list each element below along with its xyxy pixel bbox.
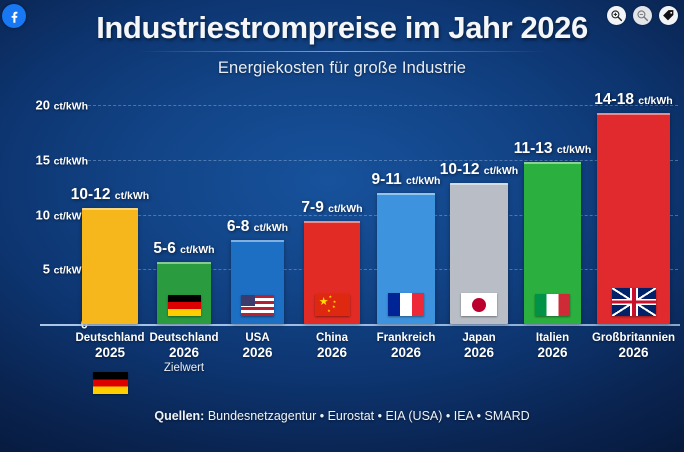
bar-value: 5-6 [153, 240, 175, 257]
bar-deutschland-2025[interactable] [82, 208, 138, 324]
bar-value: 6-8 [227, 218, 249, 235]
flag-de-icon [93, 372, 128, 394]
bar-value-label: 6-8 ct/kWh [197, 218, 318, 236]
gridline [88, 160, 678, 161]
bar-value-label: 10-12 ct/kWh [48, 186, 172, 204]
bar-value-label: 5-6 ct/kWh [123, 240, 245, 258]
bar-value: 14-18 [594, 91, 634, 108]
bar-value: 10-12 [71, 186, 111, 203]
bar-unit: ct/kWh [115, 190, 149, 202]
bar-value: 7-9 [301, 199, 323, 216]
plot-area: 05 ct/kWh10 ct/kWh15 ct/kWh20 ct/kWh 10-… [0, 0, 684, 452]
bar-highlight [597, 113, 670, 115]
bar-highlight [82, 208, 138, 210]
bar-value: 10-12 [440, 161, 480, 178]
zoom-in-icon[interactable] [607, 6, 626, 25]
zoom-out-icon[interactable] [633, 6, 652, 25]
bar-unit: ct/kWh [484, 165, 518, 177]
y-axis-tick: 20 ct/kWh [35, 98, 88, 113]
flag-it-icon [535, 294, 570, 316]
facebook-icon[interactable] [2, 4, 26, 28]
bar-highlight [304, 221, 360, 223]
bar-highlight [377, 193, 435, 195]
bar-value: 11-13 [514, 140, 553, 157]
infographic-chart: Industriestrompreise im Jahr 2026 Energi… [0, 0, 684, 452]
source-note: Quellen: Bundesnetzagentur • Eurostat • … [0, 409, 684, 423]
viewer-toolbar[interactable] [607, 6, 678, 25]
flag-de-icon [168, 295, 201, 316]
bar-unit: ct/kWh [638, 95, 672, 107]
bar-highlight [231, 240, 284, 242]
category-name: Großbritannien [581, 331, 684, 345]
source-label: Quellen: [154, 409, 204, 423]
flag-fr-icon [388, 293, 424, 316]
flag-gb-icon [612, 288, 656, 316]
y-axis-tick: 10 ct/kWh [35, 207, 88, 222]
bar-unit: ct/kWh [254, 222, 288, 234]
bar-unit: ct/kWh [557, 144, 591, 156]
x-axis-line [40, 324, 680, 326]
tag-icon[interactable] [659, 6, 678, 25]
y-axis-tick: 15 ct/kWh [35, 152, 88, 167]
x-axis-category-label: Großbritannien2026 [581, 331, 684, 361]
flag-jp-icon [461, 293, 497, 316]
flag-cn-icon: ★★★★★ [315, 294, 350, 316]
bar-highlight [450, 183, 508, 185]
category-note: Zielwert [141, 361, 227, 375]
category-year: 2026 [581, 345, 684, 361]
bar-highlight [524, 162, 581, 164]
source-list: Bundesnetzagentur • Eurostat • EIA (USA)… [204, 409, 529, 423]
bar-unit: ct/kWh [180, 244, 214, 256]
bar-unit: ct/kWh [328, 203, 362, 215]
bar-value: 9-11 [372, 171, 402, 188]
bar-highlight [157, 262, 211, 264]
bar-value-label: 7-9 ct/kWh [270, 199, 394, 217]
flag-us-icon [241, 295, 274, 316]
bar-value-label: 14-18 ct/kWh [563, 91, 684, 109]
